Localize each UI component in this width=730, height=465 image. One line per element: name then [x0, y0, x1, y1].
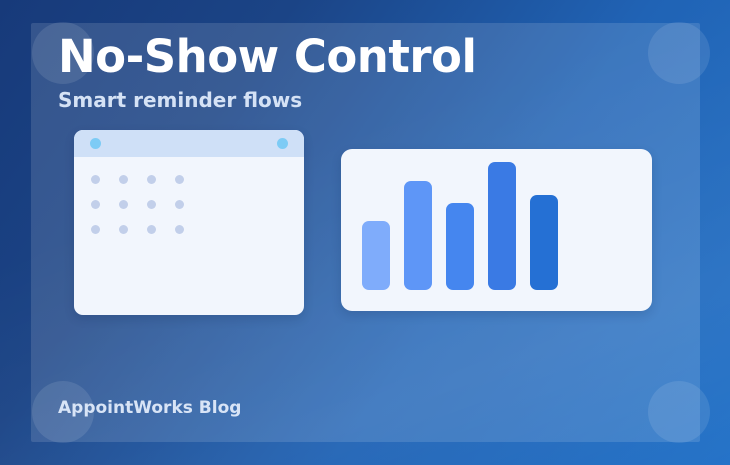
calendar-day-dot	[119, 222, 147, 247]
calendar-day-dot	[91, 222, 119, 247]
calendar-day-grid	[91, 172, 203, 247]
calendar-day-dot	[119, 197, 147, 222]
bar-chart-card	[341, 149, 652, 311]
calendar-ring-right-icon	[277, 138, 288, 149]
footer-brand-label: AppointWorks Blog	[58, 398, 241, 418]
calendar-day-dot	[175, 222, 203, 247]
page-subtitle: Smart reminder flows	[58, 90, 302, 110]
calendar-ring-left-icon	[90, 138, 101, 149]
calendar-day-dot	[91, 197, 119, 222]
chart-bar	[530, 195, 558, 290]
bar-chart-plot	[362, 162, 572, 290]
calendar-day-dot	[147, 197, 175, 222]
calendar-day-dot	[119, 172, 147, 197]
calendar-day-dot	[175, 172, 203, 197]
calendar-day-dot	[147, 172, 175, 197]
social-card-canvas: No-Show Control Smart reminder flows App…	[0, 0, 730, 465]
chart-bar	[362, 221, 390, 290]
chart-bar	[488, 162, 516, 290]
calendar-card	[74, 130, 304, 315]
calendar-day-dot	[91, 172, 119, 197]
page-title: No-Show Control	[58, 34, 476, 79]
calendar-header-bar	[74, 130, 304, 157]
calendar-day-dot	[175, 197, 203, 222]
chart-bar	[446, 203, 474, 290]
chart-bar	[404, 181, 432, 290]
calendar-day-dot	[147, 222, 175, 247]
